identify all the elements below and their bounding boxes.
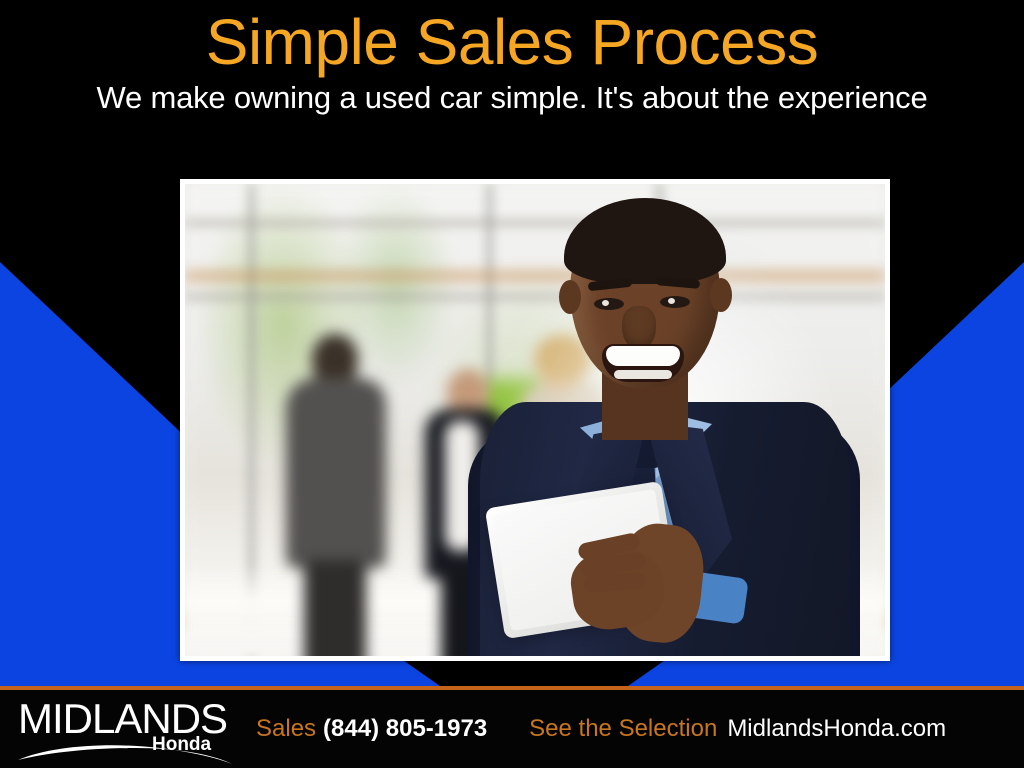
hero-photo (185, 184, 885, 656)
ear-right (710, 278, 732, 312)
sales-phone-number: (844) 805-1973 (323, 715, 487, 743)
dealer-logo[interactable]: MIDLANDS Honda (0, 690, 250, 768)
page-subtitle: We make owning a used car simple. It's a… (0, 78, 1024, 118)
footer-bar: MIDLANDS Honda Sales (844) 805-1973 See … (0, 690, 1024, 768)
honda-swoosh-icon (16, 740, 234, 766)
teeth-lower (614, 370, 672, 379)
selection-label: See the Selection (529, 715, 717, 743)
footer-website-link[interactable]: See the Selection MidlandsHonda.com (529, 715, 946, 743)
smiling-mouth (602, 344, 684, 382)
eye-left (594, 298, 624, 310)
background-figure-man (280, 334, 390, 656)
promo-slide: Simple Sales Process We make owning a us… (0, 0, 1024, 768)
blue-accent-left (0, 262, 180, 686)
website-url: MidlandsHonda.com (727, 715, 946, 743)
hero-photo-frame (180, 179, 890, 661)
teeth-upper (606, 346, 680, 366)
footer-contact-group: Sales (844) 805-1973 See the Selection M… (250, 715, 1024, 743)
page-title: Simple Sales Process (0, 0, 1024, 78)
ear-left (559, 280, 581, 314)
footer-sales-phone[interactable]: Sales (844) 805-1973 (256, 715, 487, 743)
headline-block: Simple Sales Process We make owning a us… (0, 0, 1024, 150)
sales-label: Sales (256, 715, 316, 743)
eye-right (660, 296, 690, 308)
foreground-businessman (460, 194, 860, 656)
